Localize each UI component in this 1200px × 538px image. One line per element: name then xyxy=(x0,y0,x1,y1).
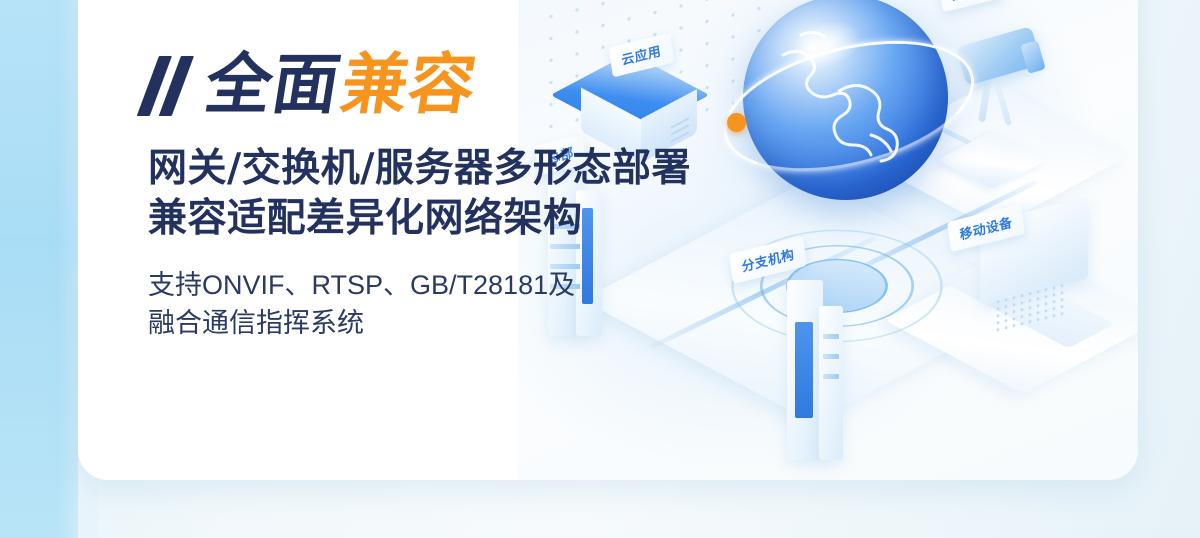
text-content: 全面 兼容 网关/交换机/服务器多形态部署 兼容适配差异化网络架构 支持ONVI… xyxy=(148,52,788,342)
window-band xyxy=(823,334,839,339)
subheadline-line-1: 网关/交换机/服务器多形态部署 xyxy=(148,144,788,194)
body-text: 支持ONVIF、RTSP、GB/T28181及 融合通信指挥系统 xyxy=(148,266,788,343)
banner-stage: 总部 云应用 摄像头 移动设备 分支机构 全面 兼容 网关/交换机/服务器多形态… xyxy=(0,0,1200,538)
window-band xyxy=(823,374,839,379)
subheadline-line-2: 兼容适配差异化网络架构 xyxy=(148,194,788,244)
tower-side xyxy=(819,306,843,460)
headline-accent: 兼容 xyxy=(337,52,481,118)
headline-primary: 全面 xyxy=(201,52,345,118)
body-line-1: 支持ONVIF、RTSP、GB/T28181及 xyxy=(148,266,788,304)
content-card: 总部 云应用 摄像头 移动设备 分支机构 全面 兼容 网关/交换机/服务器多形态… xyxy=(78,0,1138,480)
body-line-2: 融合通信指挥系统 xyxy=(148,304,788,342)
double-slash-icon xyxy=(143,56,197,116)
camera-arm xyxy=(994,82,1012,126)
subheadline: 网关/交换机/服务器多形态部署 兼容适配差异化网络架构 xyxy=(148,144,788,244)
window-band xyxy=(823,354,839,359)
headline: 全面 兼容 xyxy=(143,52,793,118)
window-strip xyxy=(795,322,813,418)
